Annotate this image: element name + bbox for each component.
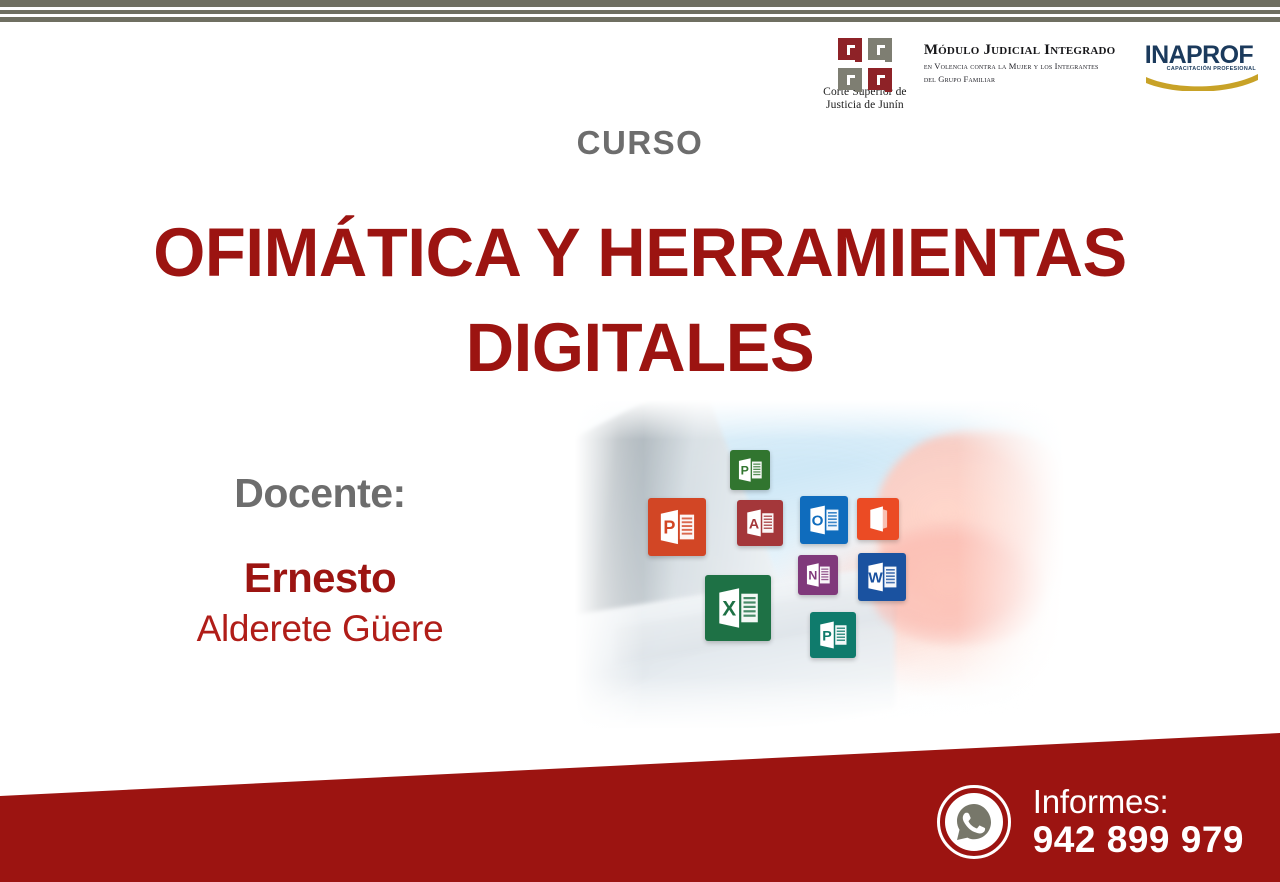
svg-text:W: W <box>868 570 883 587</box>
whatsapp-glyph-icon <box>952 800 996 844</box>
instructor-label: Docente: <box>60 470 580 517</box>
svg-text:N: N <box>808 569 817 583</box>
inaprof-swoosh-icon <box>1145 73 1260 96</box>
flyer-canvas: Corte Superior de Justicia de Junín Módu… <box>0 0 1280 882</box>
corte-superior-line1: Corte Superior de <box>820 86 910 99</box>
contact-block: Informes: 942 899 979 <box>937 784 1244 860</box>
microsoft-onenote-icon: N <box>798 555 838 595</box>
microsoft-office-icon <box>857 498 899 540</box>
corte-superior-mark-icon <box>836 36 894 84</box>
svg-text:P: P <box>822 628 832 644</box>
contact-label: Informes: <box>1033 784 1244 820</box>
corte-mark-cell-3 <box>836 66 864 94</box>
microsoft-powerpoint-icon: P <box>648 498 706 556</box>
inaprof-logo: INAPROF CAPACITACIÓN PROFESIONAL <box>1145 36 1260 96</box>
microsoft-excel-icon: X <box>705 575 771 641</box>
course-title-line1: OFIMÁTICA Y HERRAMIENTAS <box>77 205 1202 300</box>
modulo-judicial-logo: Módulo Judicial Integrado en Volencia co… <box>924 36 1131 84</box>
corte-superior-logo: Corte Superior de Justicia de Junín <box>820 36 910 112</box>
corte-mark-cell-4 <box>866 66 894 94</box>
stripe-2 <box>0 10 1280 14</box>
stripe-1 <box>0 0 1280 7</box>
header-logo-group: Corte Superior de Justicia de Junín Módu… <box>820 36 1260 112</box>
office-collage-photo: PPAONWXP <box>575 400 1065 730</box>
top-stripe-decoration <box>0 0 1280 22</box>
svg-text:P: P <box>663 518 675 538</box>
svg-text:X: X <box>722 598 736 621</box>
stripe-3 <box>0 17 1280 22</box>
microsoft-access-icon: A <box>737 500 783 546</box>
corte-mark-cell-2 <box>866 36 894 64</box>
course-title: OFIMÁTICA Y HERRAMIENTAS DIGITALES <box>77 205 1202 395</box>
modulo-subtitle-line1: en Volencia contra la Mujer y los Integr… <box>924 61 1131 72</box>
instructor-block: Docente: Ernesto Alderete Güere <box>60 470 580 650</box>
svg-text:P: P <box>741 464 749 478</box>
contact-phone: 942 899 979 <box>1033 820 1244 860</box>
modulo-title: Módulo Judicial Integrado <box>924 42 1131 59</box>
whatsapp-icon[interactable] <box>937 785 1011 859</box>
instructor-last-name: Alderete Güere <box>60 608 580 650</box>
contact-text: Informes: 942 899 979 <box>1033 784 1244 860</box>
modulo-subtitle-line2: del Grupo Familiar <box>924 74 1131 85</box>
svg-text:O: O <box>812 513 824 530</box>
whatsapp-icon-inner <box>945 793 1003 851</box>
kicker-curso: CURSO <box>0 124 1280 162</box>
microsoft-project-icon: P <box>730 450 770 490</box>
inaprof-wordmark: INAPROF <box>1145 42 1260 68</box>
svg-text:A: A <box>749 516 759 532</box>
microsoft-word-icon: W <box>858 553 906 601</box>
microsoft-publisher-icon: P <box>810 612 856 658</box>
instructor-first-name: Ernesto <box>60 554 580 602</box>
corte-superior-line2: Justicia de Junín <box>820 99 910 112</box>
corte-mark-cell-1 <box>836 36 864 64</box>
microsoft-outlook-icon: O <box>800 496 848 544</box>
course-title-line2: DIGITALES <box>77 300 1202 395</box>
